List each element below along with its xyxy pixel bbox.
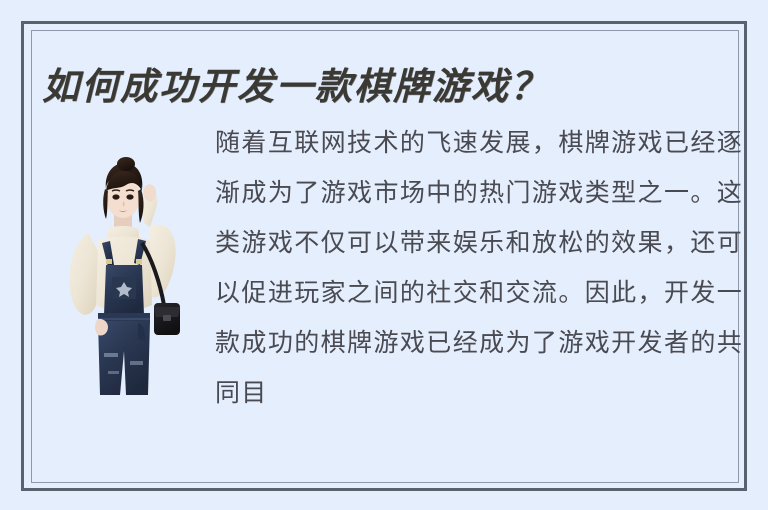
article-card: 如何成功开发一款棋牌游戏？ xyxy=(0,0,768,510)
page-title: 如何成功开发一款棋牌游戏？ xyxy=(42,59,702,113)
woman-figure-illustration xyxy=(58,155,186,395)
article-body: 随着互联网技术的飞速发展，棋牌游戏已经逐渐成为了游戏市场中的热门游戏类型之一。这… xyxy=(215,118,743,418)
illustration-photo xyxy=(58,155,186,395)
